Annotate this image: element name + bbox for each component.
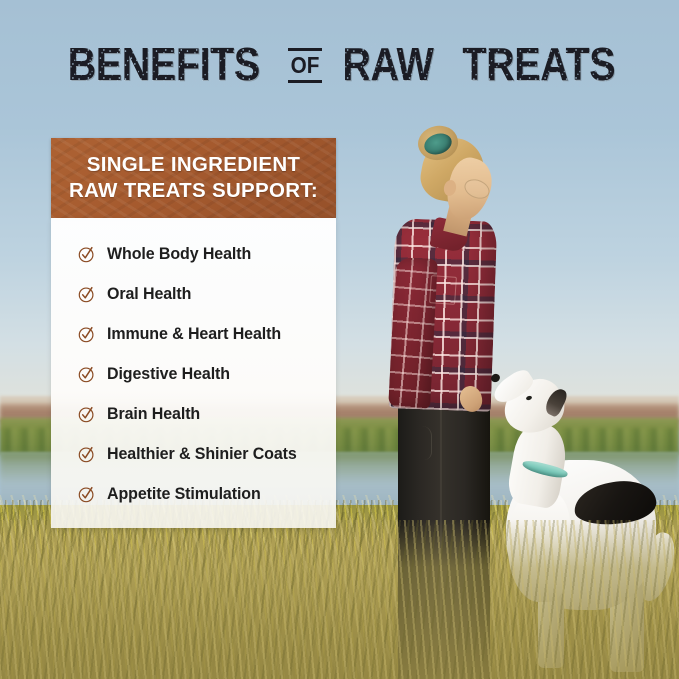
headline-word-raw: RAW — [342, 41, 433, 87]
poster-canvas: BENEFITS OF RAW TREATS SINGLE INGREDIENT… — [0, 0, 679, 679]
headline-connector-of: OF — [288, 48, 322, 83]
check-circle-icon — [77, 365, 96, 384]
check-circle-icon — [77, 325, 96, 344]
check-circle-icon — [77, 405, 96, 424]
benefits-card: SINGLE INGREDIENT RAW TREATS SUPPORT: Wh… — [51, 138, 336, 528]
check-circle-icon — [77, 485, 96, 504]
list-item: Brain Health — [51, 394, 336, 434]
benefit-label: Immune & Heart Health — [107, 326, 281, 343]
check-circle-icon — [77, 245, 96, 264]
benefit-label: Healthier & Shinier Coats — [107, 446, 297, 463]
check-circle-icon — [77, 285, 96, 304]
woman-pants-pocket — [406, 426, 432, 460]
card-header-line-1: SINGLE INGREDIENT — [87, 152, 301, 178]
woman-shirt-pocket — [429, 275, 457, 305]
woman-pants-seam — [440, 408, 442, 679]
headline-word-treats: TREATS — [462, 41, 615, 87]
headline-word-benefits: BENEFITS — [67, 41, 259, 87]
card-body: Whole Body Health Oral Health — [51, 218, 336, 528]
list-item: Digestive Health — [51, 354, 336, 394]
benefit-label: Appetite Stimulation — [107, 486, 261, 503]
dog-figure — [470, 372, 679, 679]
benefit-label: Oral Health — [107, 286, 191, 303]
benefit-label: Whole Body Health — [107, 246, 251, 263]
benefit-label: Digestive Health — [107, 366, 230, 383]
benefits-list: Whole Body Health Oral Health — [51, 234, 336, 514]
of-rule-top — [288, 48, 322, 51]
poster-headline: BENEFITS OF RAW TREATS — [0, 36, 679, 92]
card-header-line-2: RAW TREATS SUPPORT: — [69, 178, 318, 204]
list-item: Whole Body Health — [51, 234, 336, 274]
of-rule-bottom — [288, 80, 322, 83]
list-item: Appetite Stimulation — [51, 474, 336, 514]
check-circle-icon — [77, 445, 96, 464]
benefit-label: Brain Health — [107, 406, 200, 423]
dog-chest — [508, 492, 570, 602]
list-item: Immune & Heart Health — [51, 314, 336, 354]
list-item: Oral Health — [51, 274, 336, 314]
of-text: OF — [291, 54, 320, 77]
card-header-banner: SINGLE INGREDIENT RAW TREATS SUPPORT: — [51, 138, 336, 218]
list-item: Healthier & Shinier Coats — [51, 434, 336, 474]
